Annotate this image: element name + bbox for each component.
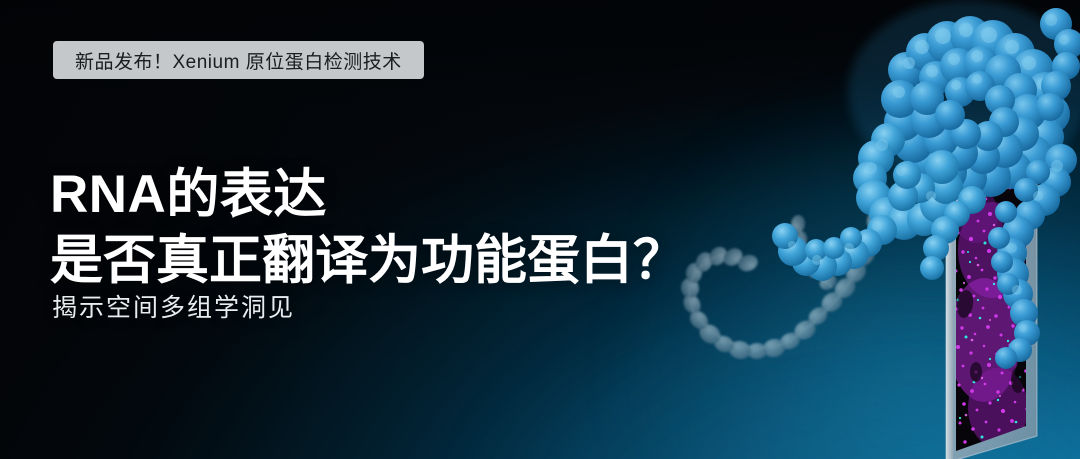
headline-line-2: 是否真正翻译为功能蛋白？ bbox=[50, 228, 686, 294]
headline-line-1: RNA的表达 bbox=[50, 162, 686, 228]
hero-banner: 新品发布！Xenium 原位蛋白检测技术 RNA的表达 是否真正翻译为功能蛋白？… bbox=[0, 0, 1080, 459]
product-announcement-badge[interactable]: 新品发布！Xenium 原位蛋白检测技术 bbox=[53, 41, 424, 79]
subheadline: 揭示空间多组学洞见 bbox=[52, 288, 295, 324]
page-title: RNA的表达 是否真正翻译为功能蛋白？ bbox=[50, 162, 686, 294]
hero-text-block: 新品发布！Xenium 原位蛋白检测技术 RNA的表达 是否真正翻译为功能蛋白？… bbox=[0, 0, 760, 459]
